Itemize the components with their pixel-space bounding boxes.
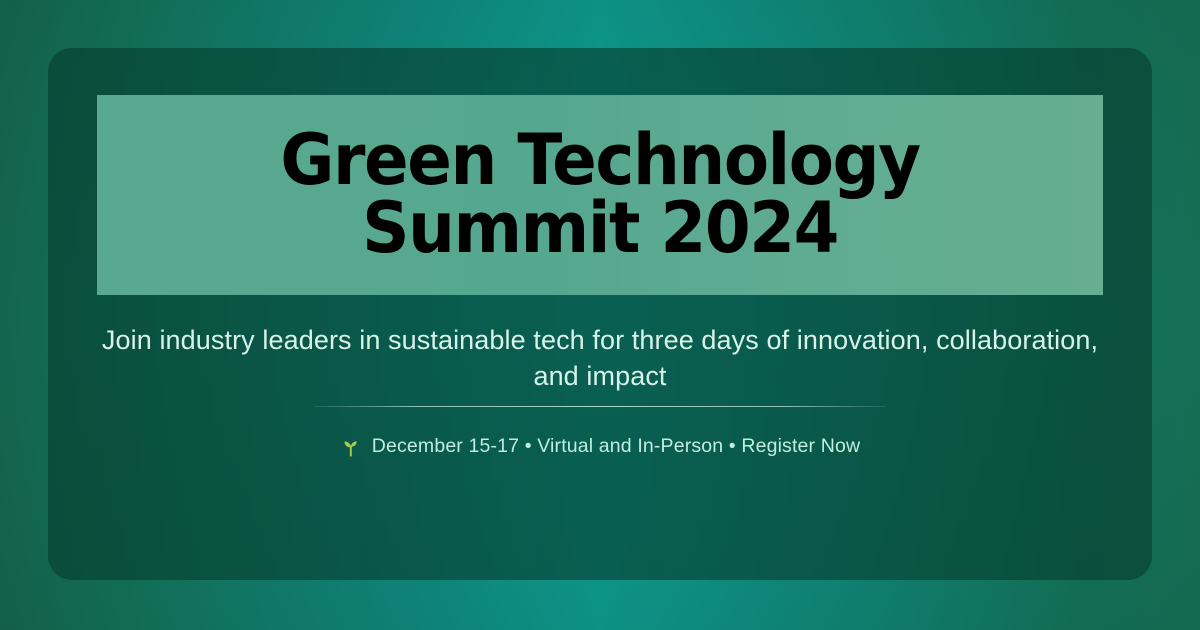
divider	[314, 406, 886, 407]
event-details-text: December 15-17 • Virtual and In-Person •…	[372, 437, 860, 457]
sprout-icon	[340, 436, 362, 458]
page-title: Green Technology Summit 2024	[258, 127, 942, 263]
subtitle-text: Join industry leaders in sustainable tec…	[85, 322, 1115, 395]
content-card: Green Technology Summit 2024 Join indust…	[48, 48, 1152, 580]
event-details: December 15-17 • Virtual and In-Person •…	[340, 436, 860, 458]
poster-canvas: Green Technology Summit 2024 Join indust…	[0, 0, 1200, 630]
title-banner: Green Technology Summit 2024	[97, 95, 1103, 295]
